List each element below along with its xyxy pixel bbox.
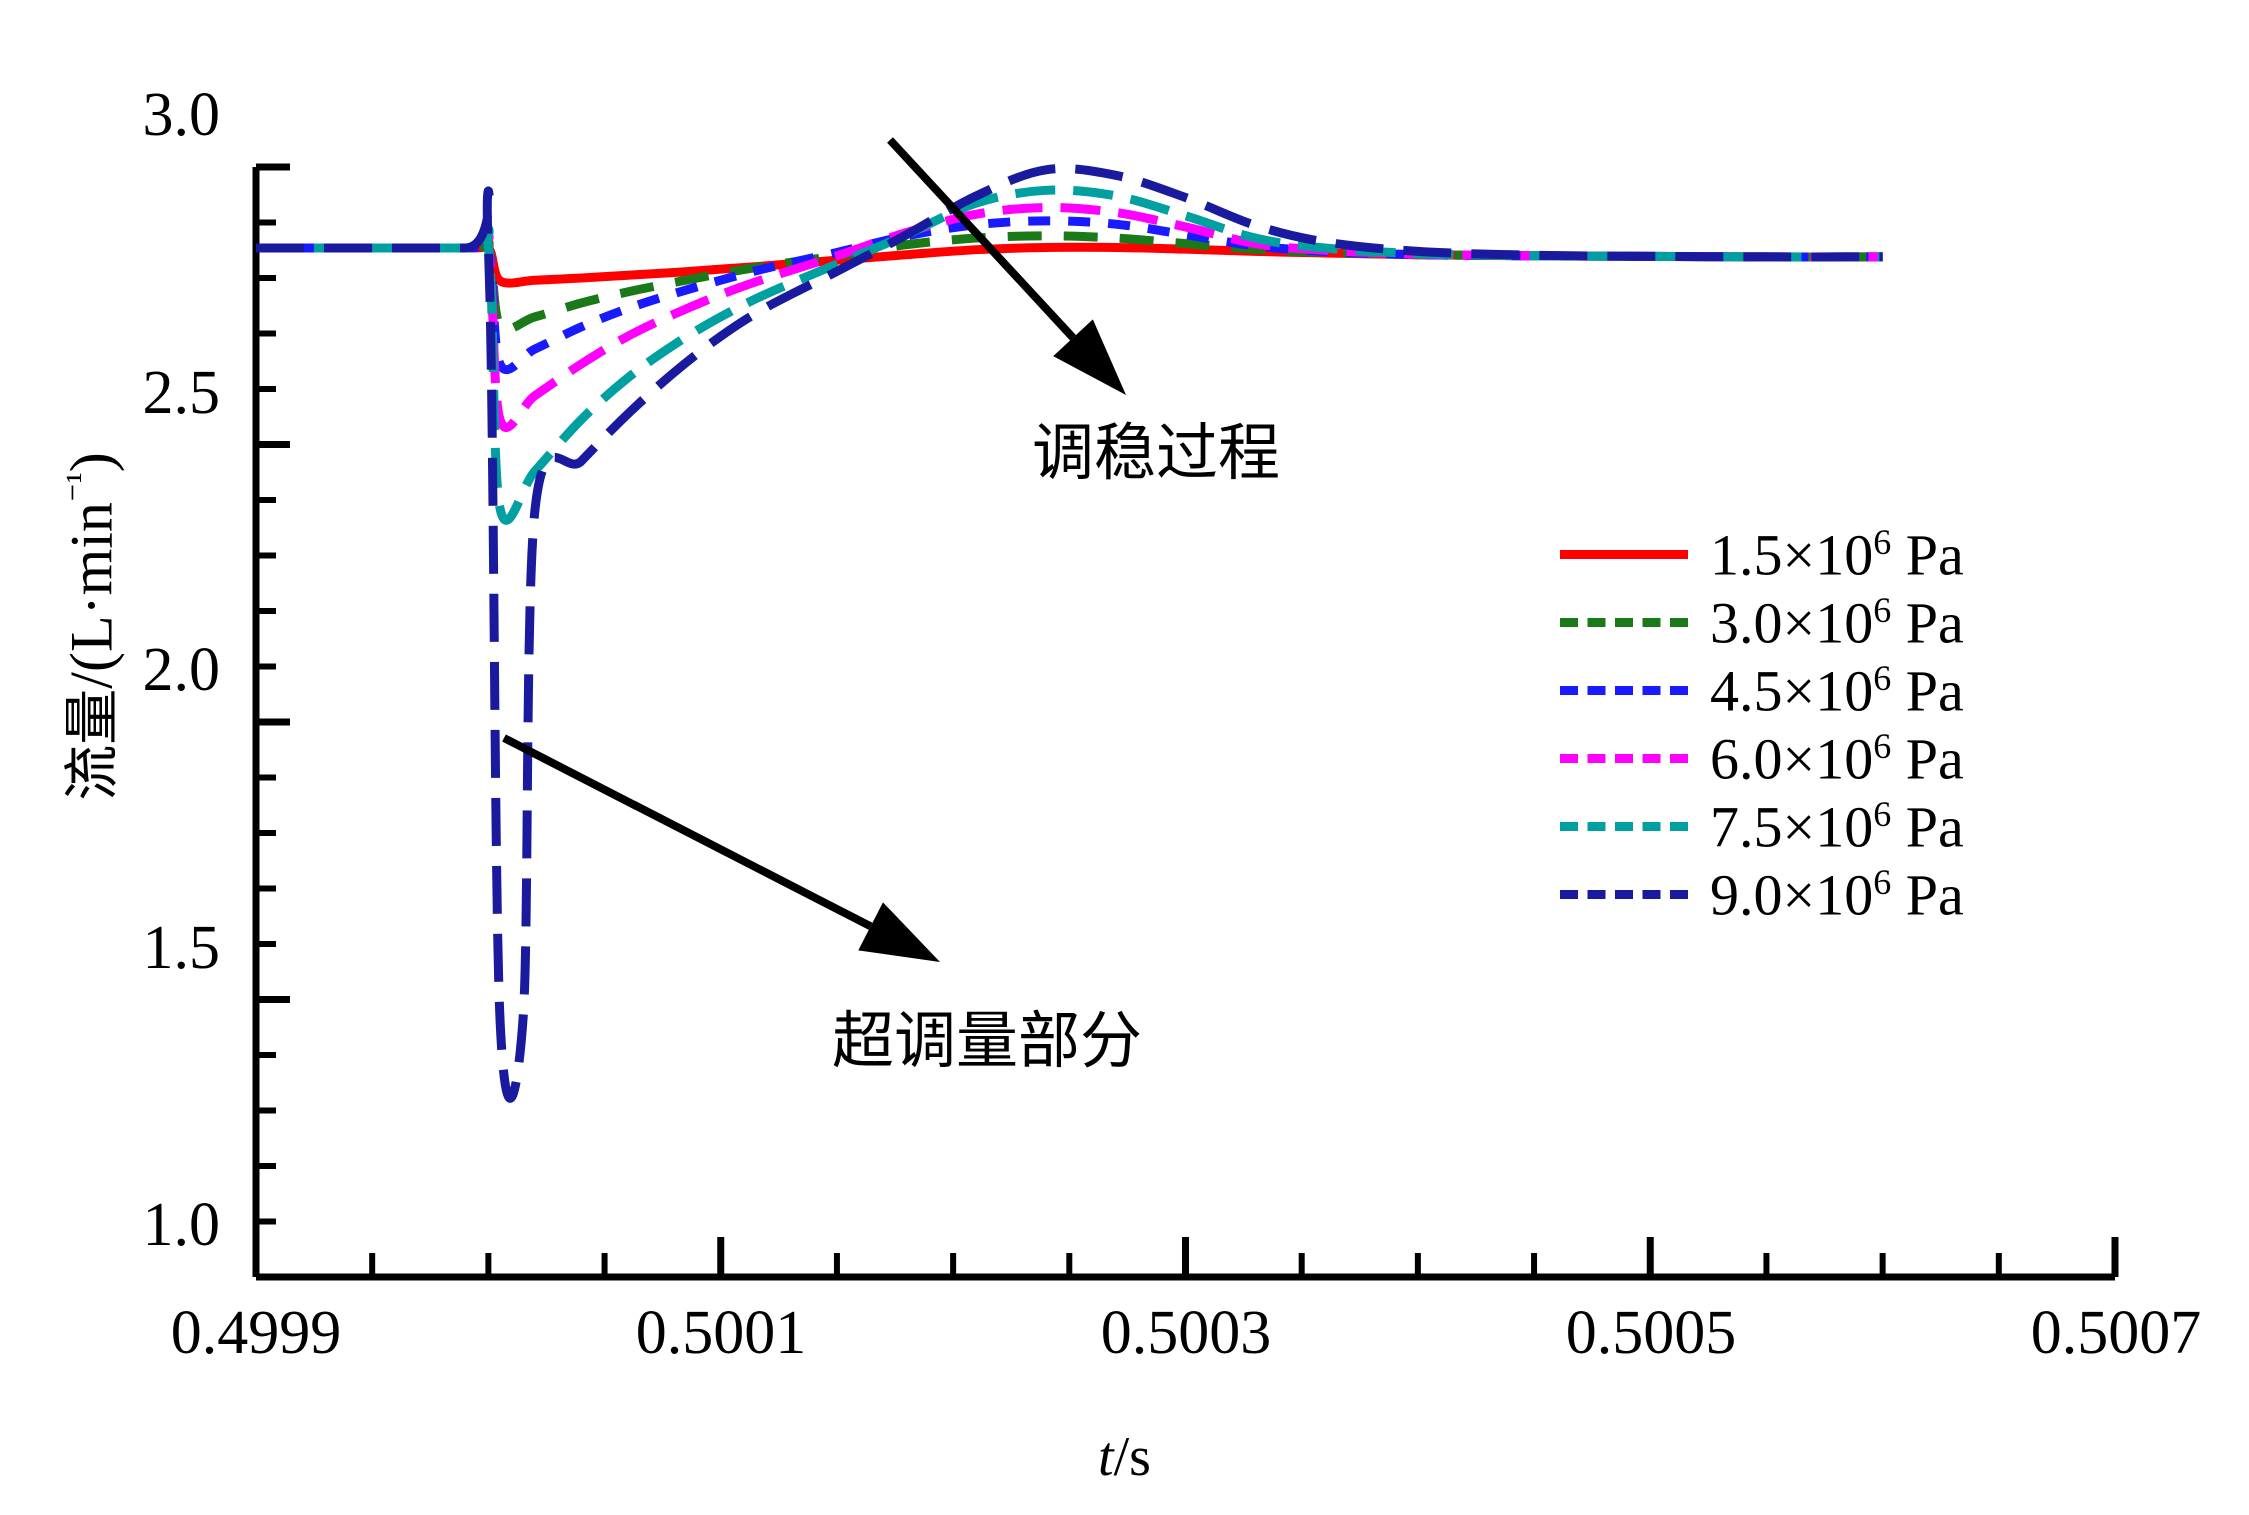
y-axis-title-close: ) [59, 452, 125, 472]
y-tick-label-min: 1.0 [20, 1190, 220, 1261]
legend-label-mantissa-4: 6.0×10 [1710, 726, 1873, 791]
legend-label-unit-3: Pa [1891, 658, 1964, 723]
legend-label-3: 4.5×106 Pa [1710, 660, 1964, 720]
legend-label-exponent-5: 6 [1873, 794, 1891, 834]
legend-label-mantissa-5: 7.5×10 [1710, 794, 1873, 859]
x-axis-title: t/s [0, 1425, 2249, 1489]
x-axis-title-var: t [1098, 1426, 1114, 1488]
legend-swatch-4 [1560, 754, 1688, 763]
x-tick-label-1: 0.5001 [561, 1298, 881, 1369]
x-axis-title-unit: /s [1114, 1426, 1151, 1488]
annotation-label-overshoot: 超调量部分 [832, 990, 1142, 1080]
legend-label-mantissa-1: 1.5×10 [1710, 522, 1873, 587]
legend-item-2[interactable]: 3.0×106 Pa [1560, 588, 1964, 656]
legend-label-1: 1.5×106 Pa [1710, 524, 1964, 584]
legend-swatch-3 [1560, 686, 1688, 695]
legend-label-unit-4: Pa [1891, 726, 1964, 791]
legend-label-2: 3.0×106 Pa [1710, 592, 1964, 652]
legend-item-3[interactable]: 4.5×106 Pa [1560, 656, 1964, 724]
legend-label-unit-1: Pa [1891, 522, 1964, 587]
legend-swatch-5 [1560, 822, 1688, 831]
y-axis-title-exp: ⁻¹ [59, 472, 99, 502]
legend-swatch-2 [1560, 618, 1688, 627]
legend-item-4[interactable]: 6.0×106 Pa [1560, 724, 1964, 792]
legend-item-5[interactable]: 7.5×106 Pa [1560, 792, 1964, 860]
x-tick-label-0: 0.4999 [96, 1298, 416, 1369]
legend-label-mantissa-6: 9.0×10 [1710, 862, 1873, 927]
chart-root: 3.0 2.5 2.0 1.5 1.0 0.4999 0.5001 0.5003… [0, 0, 2249, 1515]
legend-label-exponent-4: 6 [1873, 726, 1891, 766]
legend-label-mantissa-2: 3.0×10 [1710, 590, 1873, 655]
legend-label-unit-2: Pa [1891, 590, 1964, 655]
legend-label-unit-6: Pa [1891, 862, 1964, 927]
annotation-label-settling: 调稳过程 [1032, 402, 1280, 492]
legend-item-6[interactable]: 9.0×106 Pa [1560, 860, 1964, 928]
x-tick-label-4: 0.5007 [1956, 1298, 2249, 1369]
legend-label-4: 6.0×106 Pa [1710, 728, 1964, 788]
y-tick-label-3: 3.0 [20, 80, 220, 151]
y-axis-title-cn: 流量 [61, 689, 126, 801]
legend-label-exponent-2: 6 [1873, 590, 1891, 630]
legend-label-unit-5: Pa [1891, 794, 1964, 859]
legend-label-exponent-1: 6 [1873, 522, 1891, 562]
legend-label-6: 9.0×106 Pa [1710, 864, 1964, 924]
x-tick-label-2: 0.5003 [1026, 1298, 1346, 1369]
chart-legend: 1.5×106 Pa3.0×106 Pa4.5×106 Pa6.0×106 Pa… [1560, 520, 1964, 928]
legend-label-exponent-3: 6 [1873, 658, 1891, 698]
legend-item-1[interactable]: 1.5×106 Pa [1560, 520, 1964, 588]
legend-label-mantissa-3: 4.5×10 [1710, 658, 1873, 723]
legend-label-5: 7.5×106 Pa [1710, 796, 1964, 856]
y-axis-title-unit: /(L·min [59, 502, 125, 689]
legend-label-exponent-6: 6 [1873, 862, 1891, 902]
y-axis-title: 流量/(L·min⁻¹) [48, 277, 129, 977]
x-tick-label-3: 0.5005 [1491, 1298, 1811, 1369]
legend-swatch-1 [1560, 550, 1688, 559]
legend-swatch-6 [1560, 890, 1688, 899]
